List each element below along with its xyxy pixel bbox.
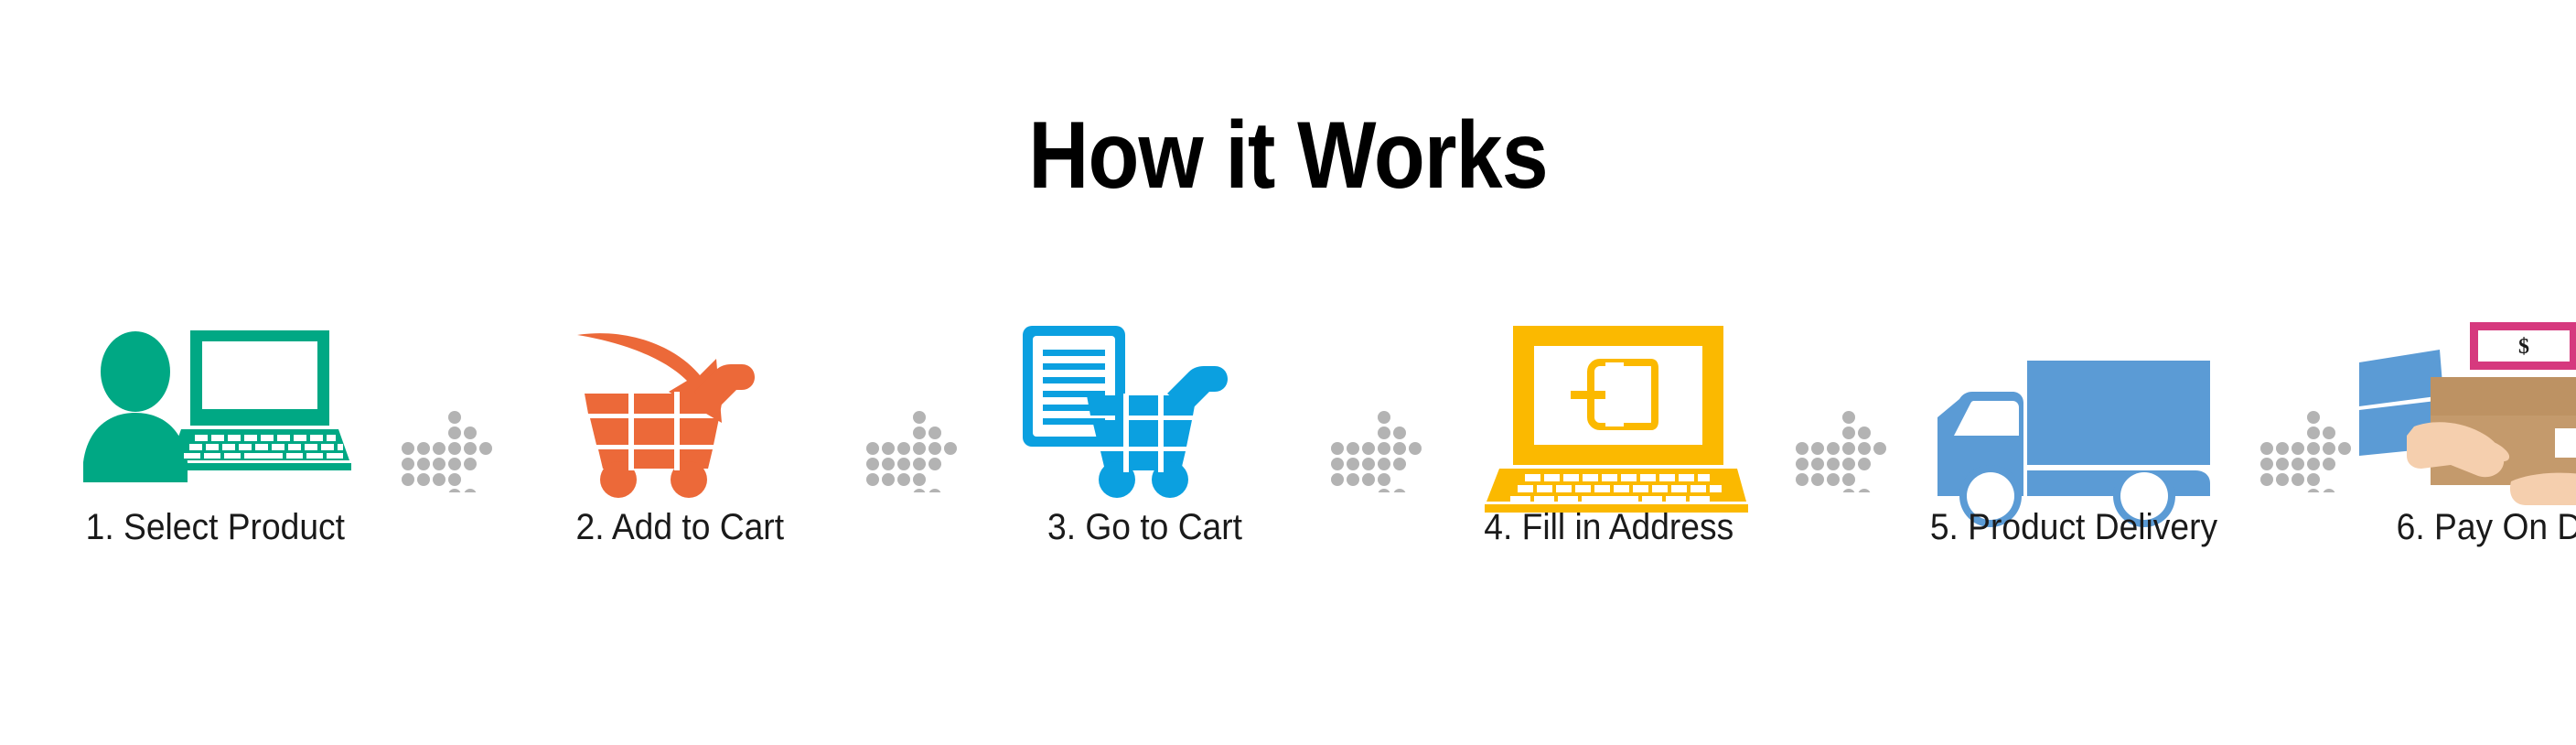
dotted-arrow-separator-2 <box>858 359 966 542</box>
step-5-artwork <box>1895 302 2252 485</box>
document-with-cart-icon <box>1021 322 1268 485</box>
step-5-label: 5. Product Delivery <box>1930 509 2217 545</box>
person-with-laptop-icon <box>78 325 352 485</box>
step-1-select-product[interactable]: 1. Select Product <box>37 302 393 604</box>
step-1-artwork <box>37 302 393 485</box>
step-5-product-delivery[interactable]: 5. Product Delivery <box>1895 302 2252 604</box>
dotted-arrow-icon <box>2257 408 2356 492</box>
box-lid <box>2431 377 2576 416</box>
step-2-label: 2. Add to Cart <box>575 509 783 545</box>
dotted-arrow-icon <box>398 408 497 492</box>
step-4-fill-in-address[interactable]: 4. Fill in Address <box>1431 302 1787 604</box>
how-it-works-infographic: How it Works <box>0 0 2576 745</box>
step-2-artwork <box>501 302 858 485</box>
dotted-arrow-icon <box>1327 408 1426 492</box>
banknote-dollar-symbol: $ <box>2518 335 2529 359</box>
step-4-artwork <box>1431 302 1787 485</box>
step-3-go-to-cart[interactable]: 3. Go to Cart <box>966 302 1323 604</box>
dotted-arrow-separator-5 <box>2252 359 2360 542</box>
step-6-label: 6. Pay On Delivery <box>2397 509 2576 545</box>
dotted-arrow-separator-3 <box>1323 359 1431 542</box>
page-title: How it Works <box>155 108 2421 203</box>
steps-row: 1. Select Product <box>37 302 2543 604</box>
laptop-with-login-arrow-icon <box>1472 322 1746 485</box>
hands-exchanging-box-and-cash-icon: $ <box>2356 302 2576 485</box>
dotted-arrow-icon <box>1792 408 1891 492</box>
step-6-artwork: $ <box>2360 302 2576 485</box>
step-2-add-to-cart[interactable]: 2. Add to Cart <box>501 302 858 604</box>
step-3-label: 3. Go to Cart <box>1047 509 1242 545</box>
step-6-pay-on-delivery[interactable]: $ 6. Pay On Delivery <box>2360 302 2576 604</box>
step-1-label: 1. Select Product <box>85 509 344 545</box>
step-4-label: 4. Fill in Address <box>1485 509 1734 545</box>
dotted-arrow-icon <box>863 408 961 492</box>
dotted-arrow-separator-4 <box>1787 359 1895 542</box>
box-shipping-label <box>2555 428 2576 458</box>
dotted-arrow-separator-1 <box>393 359 501 542</box>
step-3-artwork <box>966 302 1323 485</box>
delivery-truck-icon <box>1932 322 2216 485</box>
shopping-cart-with-arrow-icon <box>561 322 799 485</box>
